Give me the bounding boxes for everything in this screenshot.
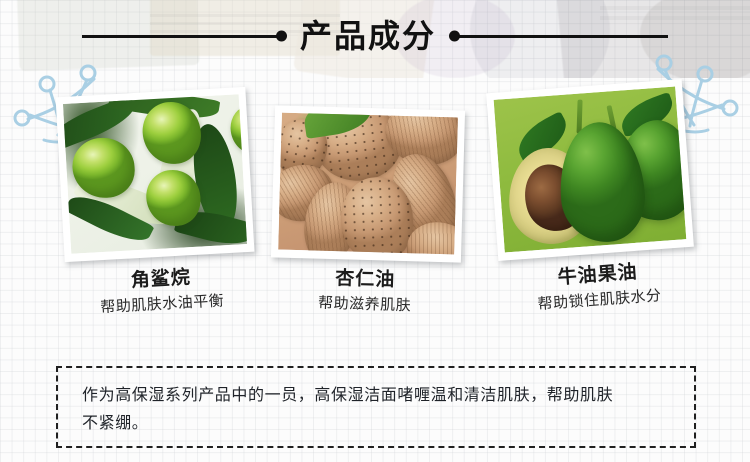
product-ingredients-page: 产品成分	[0, 0, 750, 462]
avocado-photo	[494, 87, 687, 253]
header-rule-right	[452, 35, 668, 38]
summary-text: 作为高保湿系列产品中的一员，高保湿洁面啫喱温和清洁肌肤，帮助肌肤 不紧绷。	[58, 368, 694, 437]
ingredient-photo-frame	[56, 87, 255, 262]
ingredient-photo-frame	[271, 105, 465, 262]
page-title: 产品成分	[284, 20, 452, 52]
summary-line-2: 不紧绷。	[82, 413, 148, 432]
ingredient-caption: 杏仁油 帮助滋养肌肤	[269, 265, 460, 317]
summary-line-1: 作为高保湿系列产品中的一员，高保湿洁面啫喱温和清洁肌肤，帮助肌肤	[82, 385, 613, 404]
ingredient-caption: 角鲨烷 帮助肌肤水油平衡	[65, 263, 257, 320]
ingredient-card[interactable]: 杏仁油 帮助滋养肌肤	[271, 105, 465, 262]
ingredient-card[interactable]: 角鲨烷 帮助肌肤水油平衡	[56, 87, 255, 262]
green-olives-photo	[63, 94, 247, 254]
header-rule-left	[82, 35, 284, 38]
ingredient-caption: 牛油果油 帮助锁住肌肤水分	[499, 257, 698, 317]
ingredient-title: 杏仁油	[270, 265, 461, 294]
header-dot-right-icon	[449, 31, 460, 42]
ingredient-card[interactable]: 牛油果油 帮助锁住肌肤水分	[486, 79, 694, 261]
header-dot-left-icon	[276, 31, 287, 42]
section-header: 产品成分	[0, 8, 750, 64]
summary-box: 作为高保湿系列产品中的一员，高保湿洁面啫喱温和清洁肌肤，帮助肌肤 不紧绷。	[56, 366, 696, 448]
almonds-photo	[278, 113, 458, 255]
ingredient-photo-frame	[486, 79, 694, 261]
ingredient-description: 帮助滋养肌肤	[269, 292, 459, 317]
ingredient-card-list: 角鲨烷 帮助肌肤水油平衡	[0, 78, 750, 338]
